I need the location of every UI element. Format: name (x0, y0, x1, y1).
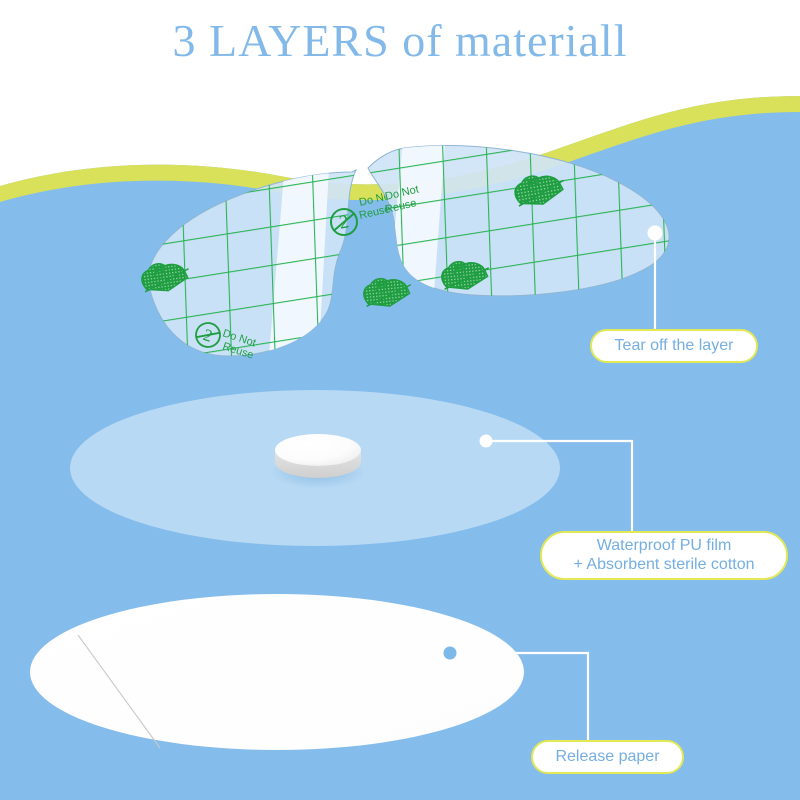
callout-leaders (0, 0, 800, 800)
callout-tear-off-the-layer[interactable]: Tear off the layer (590, 329, 758, 363)
callout-dot-icon[interactable] (648, 226, 663, 241)
callout-label-line2: + Absorbent sterile cotton (574, 556, 755, 575)
callout-release-paper[interactable]: Release paper (531, 740, 684, 774)
callout-label: Release paper (555, 748, 659, 767)
callout-label-line1: Waterproof PU film (597, 537, 732, 556)
page-title: 3 LAYERS of materiall (0, 14, 800, 67)
leader-line-pu (486, 441, 632, 533)
callout-waterproof-pu-film[interactable]: Waterproof PU film + Absorbent sterile c… (540, 531, 788, 580)
callout-dot-icon[interactable] (480, 435, 493, 448)
infographic-canvas: 2 Do Not Reuse 2 Do Not Reuse (0, 0, 800, 800)
callout-dot-icon[interactable] (444, 647, 457, 660)
callout-label: Tear off the layer (615, 337, 734, 356)
leader-line-release (450, 653, 588, 742)
